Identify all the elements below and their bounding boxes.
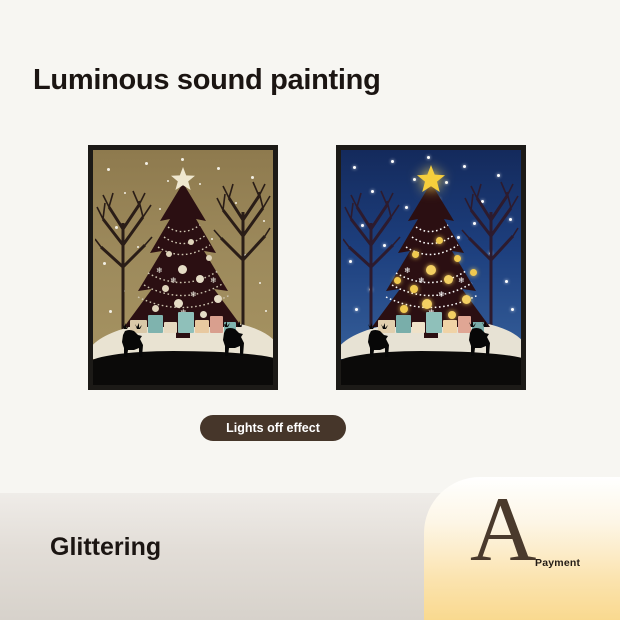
payment-panel[interactable]: A Payment bbox=[424, 477, 620, 620]
product-card-lights-on[interactable]: ❄ ❄ ❄ ❄ ❄ bbox=[336, 145, 526, 390]
deer-right-dim bbox=[215, 321, 249, 359]
deer-left-lit bbox=[361, 323, 395, 359]
painting-scene-dim: ❄ ❄ ❄ ❄ ❄ bbox=[93, 150, 273, 385]
framed-painting-lights-off[interactable]: ❄ ❄ ❄ ❄ ❄ bbox=[88, 145, 278, 390]
payment-letter-a: A bbox=[470, 483, 536, 575]
framed-painting-lights-on[interactable]: ❄ ❄ ❄ ❄ ❄ bbox=[336, 145, 526, 390]
painting-scene-lit: ❄ ❄ ❄ ❄ ❄ bbox=[341, 150, 521, 385]
glittering-label: Glittering bbox=[50, 533, 161, 562]
tree-star-lit bbox=[416, 164, 446, 194]
lights-off-effect-button[interactable]: Lights off effect bbox=[200, 415, 346, 441]
product-showcase: ❄ ❄ ❄ ❄ ❄ bbox=[0, 140, 620, 450]
page-title: Luminous sound painting bbox=[33, 64, 381, 97]
tree-star-dim bbox=[170, 166, 196, 192]
deer-right-lit bbox=[461, 321, 495, 359]
deer-left-dim bbox=[115, 323, 149, 359]
payment-label: Payment bbox=[535, 557, 580, 569]
product-card-lights-off[interactable]: ❄ ❄ ❄ ❄ ❄ bbox=[88, 145, 278, 390]
